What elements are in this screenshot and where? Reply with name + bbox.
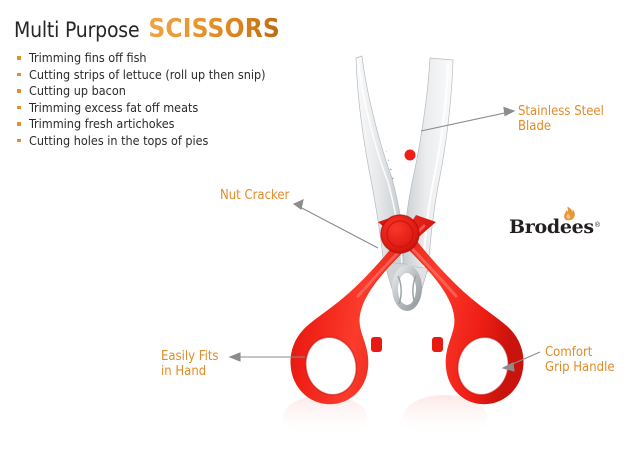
- left-handle-nub: [371, 337, 382, 352]
- callout-line-1: Easily Fits: [161, 349, 219, 364]
- feature-list: Trimming fins off fish Cutting strips of…: [16, 50, 266, 150]
- bullet-icon: [17, 56, 21, 60]
- callout-stainless-steel-blade: Stainless Steel Blade: [518, 104, 604, 134]
- page-title: Multi PurposeSCISSORS: [14, 14, 280, 44]
- list-item-label: Trimming fins off fish: [29, 50, 147, 65]
- list-item: Trimming excess fat off meats: [16, 100, 266, 116]
- callout-line-2: Grip Handle: [545, 360, 615, 375]
- list-item: Cutting holes in the tops of pies: [16, 133, 266, 149]
- list-item-label: Cutting holes in the tops of pies: [29, 133, 208, 148]
- list-item: Trimming fins off fish: [16, 50, 266, 66]
- list-item-label: Cutting strips of lettuce (roll up then …: [29, 67, 266, 82]
- pivot-screw: [381, 215, 419, 253]
- bullet-icon: [17, 73, 21, 77]
- list-item-label: Trimming fresh artichokes: [29, 116, 175, 131]
- callout-line-1: Nut Cracker: [220, 188, 289, 203]
- list-item: Cutting strips of lettuce (roll up then …: [16, 67, 266, 83]
- callout-nut-cracker: Nut Cracker: [220, 188, 289, 203]
- brand-logo: Brodees®: [509, 216, 600, 238]
- arrow-nut-cracker: [294, 200, 378, 248]
- blade-accent-dot: [405, 150, 416, 161]
- list-item: Trimming fresh artichokes: [16, 116, 266, 132]
- title-accent-text: SCISSORS: [148, 14, 280, 44]
- hand-icon: [563, 206, 576, 221]
- list-item-label: Cutting up bacon: [29, 83, 126, 98]
- infographic-page: Multi PurposeSCISSORS Trimming fins off …: [0, 0, 640, 453]
- callout-comfort-grip-handle: Comfort Grip Handle: [545, 345, 615, 375]
- bullet-icon: [17, 89, 21, 93]
- bullet-icon: [17, 139, 21, 143]
- bullet-icon: [17, 106, 21, 110]
- callout-line-2: Blade: [518, 119, 604, 134]
- registered-trademark-icon: ®: [595, 222, 600, 229]
- list-item-label: Trimming excess fat off meats: [29, 100, 198, 115]
- product-reflection: [283, 395, 487, 439]
- callout-line-2: in Hand: [161, 364, 219, 379]
- brand-name: Brodees: [509, 216, 594, 238]
- bullet-icon: [17, 122, 21, 126]
- nut-cracker-opening: [392, 265, 422, 311]
- callout-line-1: Comfort: [545, 345, 615, 360]
- right-handle-nub: [432, 337, 443, 352]
- callout-easily-fits-in-hand: Easily Fits in Hand: [161, 349, 219, 379]
- list-item: Cutting up bacon: [16, 83, 266, 99]
- callout-line-1: Stainless Steel: [518, 104, 604, 119]
- title-main-text: Multi Purpose: [14, 18, 139, 42]
